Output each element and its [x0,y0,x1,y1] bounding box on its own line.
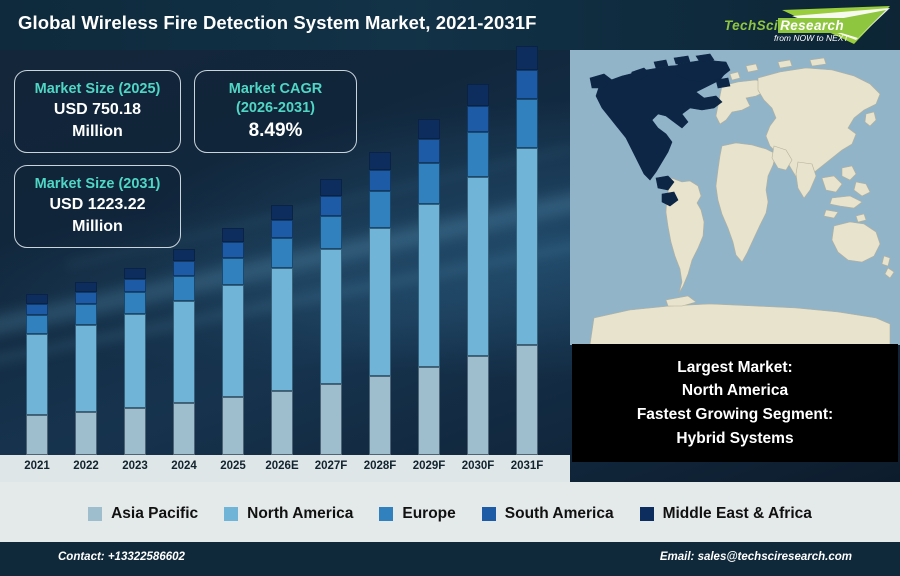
bar-segment-south-america [418,139,440,163]
bar-2030F [467,84,489,455]
largest-market-label: Largest Market: [677,356,792,380]
bar-segment-middle-east-africa [320,179,342,196]
x-axis-label-2024: 2024 [160,460,209,472]
bar-segment-middle-east-africa [516,46,538,70]
legend-item-asia-pacific[interactable]: Asia Pacific [88,505,198,523]
bar-segment-south-america [173,261,195,276]
bar-segment-south-america [467,106,489,132]
bar-segment-asia-pacific [418,367,440,455]
legend-swatch-icon [482,507,496,521]
bar-segment-asia-pacific [271,391,293,455]
bar-segment-middle-east-africa [222,228,244,242]
highlights-box: Largest Market: North America Fastest Gr… [572,344,898,462]
footer-contact: Contact: +13322586602 [58,551,185,563]
bar-segment-north-america [271,268,293,391]
bar-segment-north-america [418,204,440,367]
footer-email: Email: sales@techsciresearch.com [660,551,852,563]
bar-segment-asia-pacific [369,376,391,455]
bar-segment-europe [369,191,391,228]
bar-segment-europe [26,315,48,334]
x-axis-label-2021: 2021 [13,460,62,472]
bar-segment-middle-east-africa [369,152,391,170]
bar-segment-south-america [124,279,146,292]
legend-item-north-america[interactable]: North America [224,505,353,523]
bar-segment-middle-east-africa [173,249,195,261]
bar-segment-asia-pacific [516,345,538,455]
bar-segment-middle-east-africa [271,205,293,220]
bar-segment-south-america [75,292,97,304]
legend-swatch-icon [88,507,102,521]
legend-swatch-icon [640,507,654,521]
bar-segment-europe [222,258,244,285]
bar-segment-south-america [271,220,293,238]
bar-segment-middle-east-africa [418,119,440,139]
bar-segment-europe [271,238,293,268]
legend-label: Europe [402,505,455,523]
bar-2026E [271,205,293,455]
fastest-segment-value: Hybrid Systems [676,427,793,451]
legend-swatch-icon [379,507,393,521]
bar-2025 [222,228,244,455]
bar-2028F [369,152,391,455]
bar-2022 [75,282,97,455]
x-axis-label-2026E: 2026E [258,460,307,472]
logo-tagline: from NOW to NEXT [774,33,849,43]
x-axis-label-2028F: 2028F [356,460,405,472]
bar-segment-europe [173,276,195,301]
logo-word-research: Research [778,18,846,33]
bar-segment-north-america [516,148,538,345]
bar-segment-middle-east-africa [75,282,97,292]
x-axis-label-2030F: 2030F [454,460,503,472]
bar-2031F [516,46,538,455]
logo-word-techsci: TechSci [724,18,778,33]
infographic-root: Global Wireless Fire Detection System Ma… [0,0,900,576]
bar-2027F [320,179,342,455]
logo-wordmark: TechSciResearch [724,18,846,33]
bar-2024 [173,249,195,455]
legend-label: Middle East & Africa [663,505,812,523]
x-axis-label-2025: 2025 [209,460,258,472]
bar-segment-europe [516,99,538,148]
legend-swatch-icon [224,507,238,521]
bar-segment-asia-pacific [124,408,146,455]
bar-2029F [418,119,440,455]
bar-segment-north-america [320,249,342,384]
bar-2023 [124,268,146,455]
bar-segment-asia-pacific [173,403,195,455]
techsci-research-logo[interactable]: TechSciResearch from NOW to NEXT [716,2,894,48]
bar-segment-middle-east-africa [124,268,146,279]
stacked-bar-chart [0,50,570,455]
bar-segment-north-america [467,177,489,356]
legend-item-europe[interactable]: Europe [379,505,455,523]
bar-segment-europe [467,132,489,177]
bar-segment-asia-pacific [320,384,342,455]
legend-item-south-america[interactable]: South America [482,505,614,523]
bar-segment-europe [418,163,440,204]
largest-market-value: North America [682,379,788,403]
map-land-north-america-highlight [590,54,730,206]
bar-segment-north-america [75,325,97,412]
x-axis-label-2022: 2022 [62,460,111,472]
bar-segment-north-america [369,228,391,376]
bar-segment-asia-pacific [26,415,48,455]
legend-label: North America [247,505,353,523]
bar-segment-europe [124,292,146,314]
x-axis-label-2023: 2023 [111,460,160,472]
legend-label: Asia Pacific [111,505,198,523]
header-bar: Global Wireless Fire Detection System Ma… [0,0,900,50]
x-axis-label-2027F: 2027F [307,460,356,472]
bar-segment-middle-east-africa [467,84,489,106]
page-title: Global Wireless Fire Detection System Ma… [18,12,537,34]
bar-segment-north-america [173,301,195,403]
bar-2021 [26,294,48,455]
footer-bar: Contact: +13322586602 Email: sales@techs… [0,542,900,576]
bar-segment-south-america [222,242,244,258]
bar-segment-europe [75,304,97,325]
chart-x-axis: 202120222023202420252026E2027F2028F2029F… [0,455,570,482]
world-map-svg [570,50,900,345]
bar-segment-south-america [320,196,342,216]
legend-label: South America [505,505,614,523]
world-map [570,50,900,345]
bar-segment-north-america [222,285,244,397]
bar-segment-north-america [124,314,146,408]
bar-segment-north-america [26,334,48,415]
x-axis-label-2029F: 2029F [405,460,454,472]
bar-segment-europe [320,216,342,249]
x-axis-label-2031F: 2031F [503,460,552,472]
bar-segment-south-america [26,304,48,315]
legend-item-middle-east-africa[interactable]: Middle East & Africa [640,505,812,523]
bar-segment-asia-pacific [75,412,97,455]
bar-segment-asia-pacific [467,356,489,455]
fastest-segment-label: Fastest Growing Segment: [637,403,833,427]
bar-segment-south-america [516,70,538,99]
bar-segment-middle-east-africa [26,294,48,304]
chart-legend: Asia PacificNorth AmericaEuropeSouth Ame… [0,482,900,542]
bar-segment-south-america [369,170,391,191]
bar-segment-asia-pacific [222,397,244,455]
